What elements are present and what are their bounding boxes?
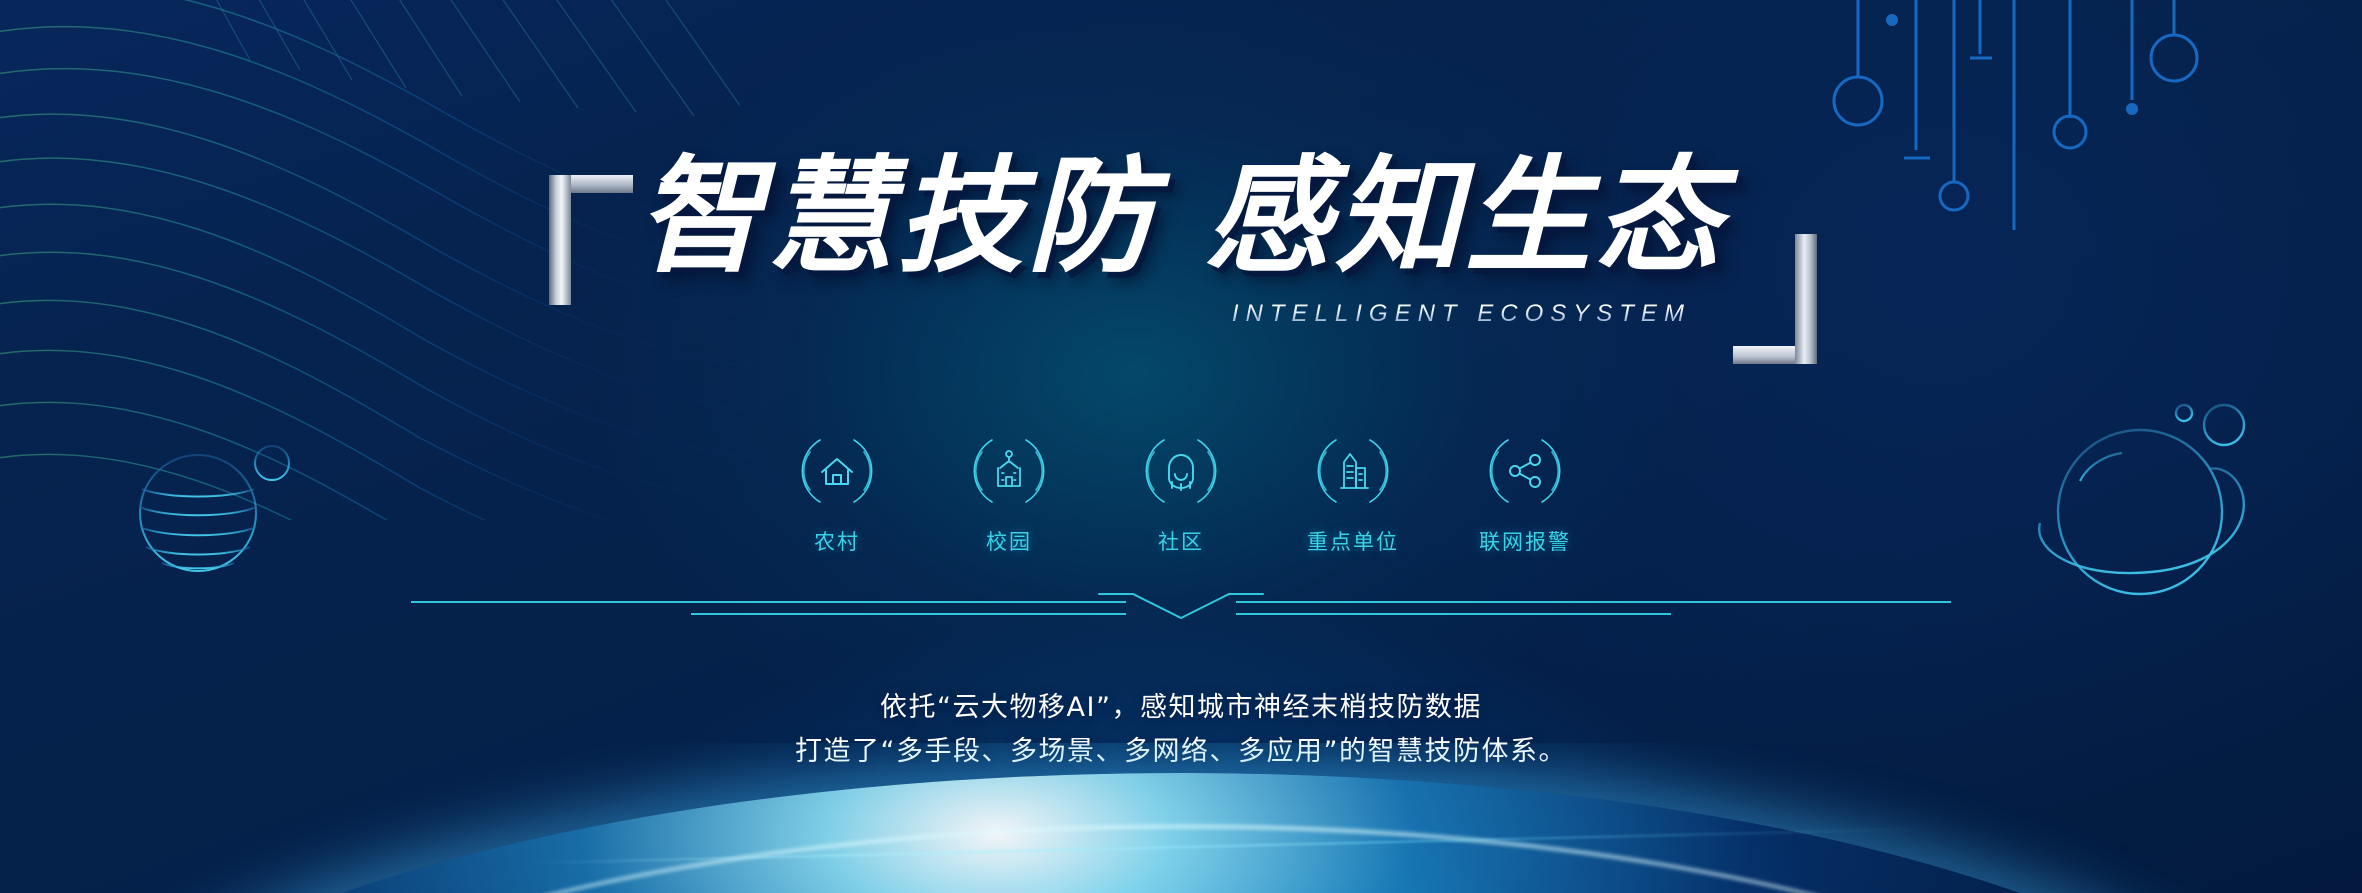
page-title: 智慧技防 感知生态 [637,150,1725,284]
building-icon [1314,432,1392,510]
page-subtitle: INTELLIGENT ECOSYSTEM [637,300,1725,328]
corner-bracket-top-left-icon [537,175,633,305]
description-line-2: 打造了“多手段、多场景、多网络、多应用”的智慧技防体系。 [0,730,2362,774]
wireframe-globe-icon [110,415,310,615]
category-icon-row: 农村 [782,432,1580,556]
description-block: 依托“云大物移AI”，感知城市神经末梢技防数据 打造了“多手段、多场景、多网络、… [0,686,2362,773]
earth-glow-streak [528,828,1928,864]
category-label: 社区 [1158,526,1204,556]
earth-glow-edge [121,825,2241,893]
banner-root: 智慧技防 感知生态 INTELLIGENT ECOSYSTEM [0,0,2362,893]
corner-bracket-bottom-right-icon [1733,234,1829,364]
category-label: 联网报警 [1479,526,1571,556]
section-divider [381,588,1981,628]
category-network-alarm[interactable]: 联网报警 [1470,432,1580,556]
community-icon [1142,432,1220,510]
title-block: 智慧技防 感知生态 INTELLIGENT ECOSYSTEM [0,150,2362,328]
description-line-1: 依托“云大物移AI”，感知城市神经末梢技防数据 [0,686,2362,730]
category-rural[interactable]: 农村 [782,432,892,556]
share-icon [1486,432,1564,510]
category-community[interactable]: 社区 [1126,432,1236,556]
ringed-planet-icon [1992,375,2342,635]
category-label: 重点单位 [1307,526,1399,556]
school-icon [970,432,1048,510]
category-label: 农村 [814,526,860,556]
category-campus[interactable]: 校园 [954,432,1064,556]
earth-glow-body [31,773,2331,893]
category-label: 校园 [986,526,1032,556]
category-key-units[interactable]: 重点单位 [1298,432,1408,556]
house-icon [798,432,876,510]
